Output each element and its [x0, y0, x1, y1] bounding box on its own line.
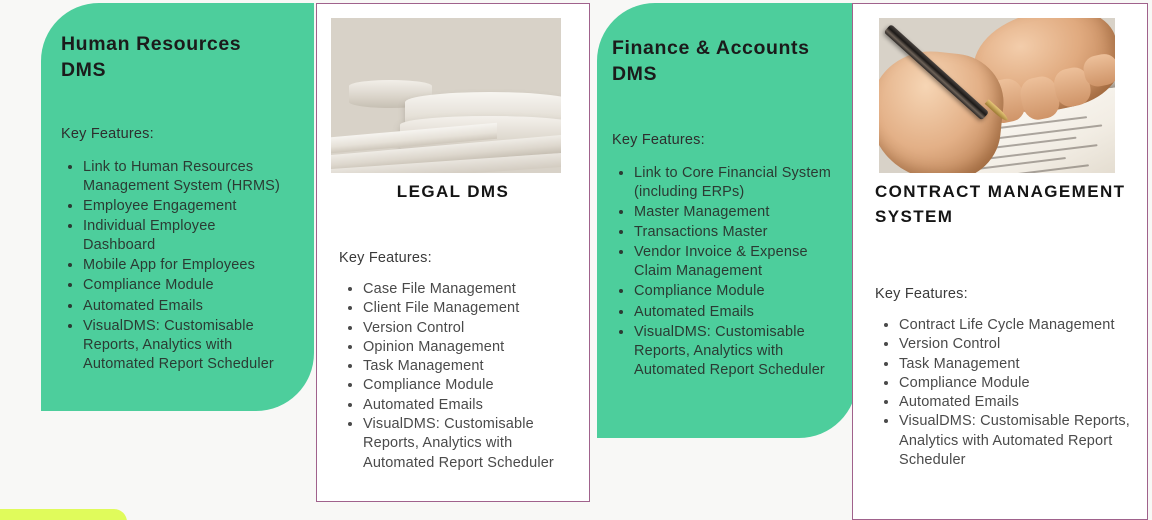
list-item: Case File Management — [363, 280, 575, 299]
list-item: Opinion Management — [363, 338, 575, 357]
card-title: Finance & Accounts DMS — [612, 35, 812, 88]
card-body: Human Resources DMS Key Features: Link t… — [41, 3, 314, 385]
list-item: VisualDMS: Customisable Reports, Analyti… — [363, 415, 575, 473]
list-item: Individual Employee Dashboard — [83, 217, 288, 255]
list-item: Contract Life Cycle Management — [899, 316, 1133, 335]
classical-stone-columns-photo — [331, 18, 561, 173]
feature-list: Link to Human Resources Management Syste… — [83, 158, 288, 374]
list-item: Link to Core Financial System (including… — [634, 164, 839, 202]
key-features-label: Key Features: — [61, 126, 288, 142]
slide-canvas: Human Resources DMS Key Features: Link t… — [0, 0, 1152, 520]
list-item: Automated Emails — [634, 303, 839, 322]
feature-list: Link to Core Financial System (including… — [634, 164, 839, 380]
accent-bar-decor — [0, 509, 127, 520]
list-item: VisualDMS: Customisable Reports, Analyti… — [634, 323, 839, 380]
list-item: Compliance Module — [634, 282, 839, 301]
list-item: Vendor Invoice & Expense Claim Managemen… — [634, 243, 839, 281]
feature-list: Contract Life Cycle Management Version C… — [899, 316, 1133, 470]
list-item: Master Management — [634, 203, 839, 222]
list-item: Task Management — [899, 355, 1133, 374]
list-item: Compliance Module — [363, 376, 575, 395]
key-features-label: Key Features: — [875, 286, 1133, 302]
hand-signing-contract-photo — [879, 18, 1115, 173]
list-item: Link to Human Resources Management Syste… — [83, 158, 288, 196]
card-contract-management-system[interactable]: CONTRACT MANAGEMENT SYSTEM Key Features:… — [852, 3, 1148, 520]
list-item: Employee Engagement — [83, 197, 288, 216]
key-features-label: Key Features: — [612, 132, 839, 148]
list-item: Automated Emails — [363, 396, 575, 415]
list-item: Client File Management — [363, 299, 575, 318]
card-title: LEGAL DMS — [317, 180, 589, 205]
feature-list: Case File Management Client File Managem… — [363, 280, 575, 473]
card-legal-dms[interactable]: LEGAL DMS Key Features: Case File Manage… — [316, 3, 590, 502]
card-human-resources-dms[interactable]: Human Resources DMS Key Features: Link t… — [41, 3, 314, 411]
card-title: Human Resources DMS — [61, 31, 288, 84]
key-features-label: Key Features: — [339, 250, 575, 266]
list-item: Compliance Module — [83, 276, 288, 295]
card-finance-accounts-dms[interactable]: Finance & Accounts DMS Key Features: Lin… — [597, 3, 857, 438]
list-item: VisualDMS: Customisable Reports, Analyti… — [899, 412, 1133, 470]
list-item: Transactions Master — [634, 223, 839, 242]
list-item: Version Control — [363, 319, 575, 338]
list-item: Task Management — [363, 357, 575, 376]
list-item: Version Control — [899, 335, 1133, 354]
list-item: Automated Emails — [83, 297, 288, 316]
list-item: Automated Emails — [899, 393, 1133, 412]
list-item: VisualDMS: Customisable Reports, Analyti… — [83, 317, 288, 374]
list-item: Compliance Module — [899, 374, 1133, 393]
card-body: Finance & Accounts DMS Key Features: Lin… — [597, 3, 857, 391]
list-item: Mobile App for Employees — [83, 256, 288, 275]
card-title: CONTRACT MANAGEMENT SYSTEM — [875, 180, 1133, 229]
